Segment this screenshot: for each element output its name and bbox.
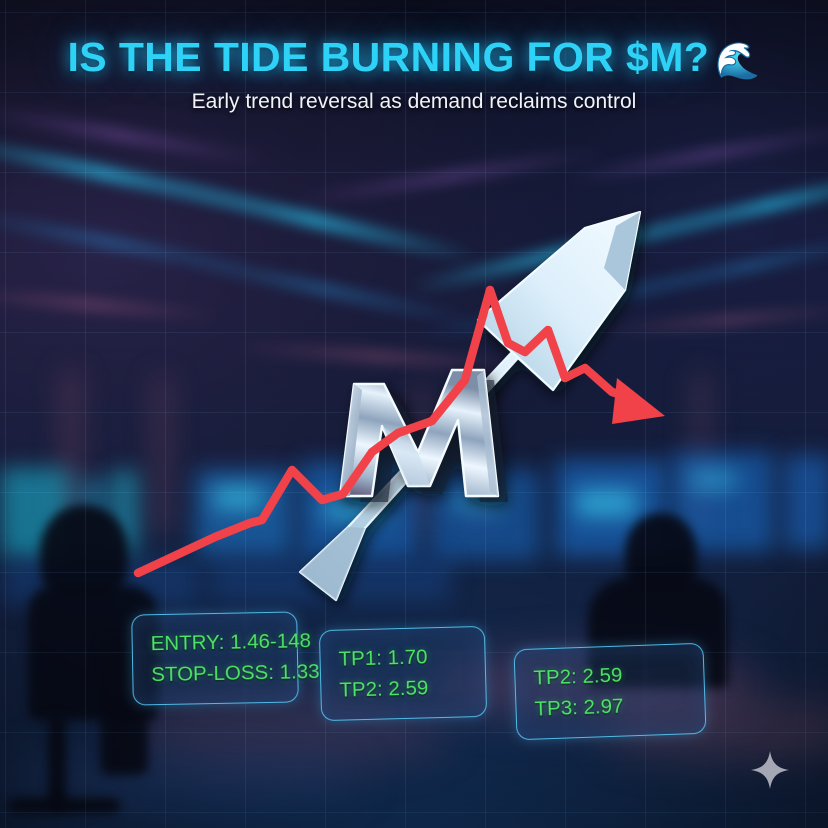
price-line-down-arrowhead <box>612 378 665 424</box>
sparkle-icon <box>750 750 790 790</box>
entry-card-line-1: ENTRY: 1.46-148 <box>150 626 279 660</box>
wave-icon: 🌊 <box>715 40 760 81</box>
tp-card-a-line-1: TP1: 1.70 <box>338 640 467 674</box>
tp-card-b[interactable]: TP2: 2.59 TP3: 2.97 <box>513 643 706 741</box>
entry-card[interactable]: ENTRY: 1.46-148 STOP-LOSS: 1.33 <box>131 611 299 705</box>
tp-card-a[interactable]: TP1: 1.70 TP2: 2.59 <box>319 626 487 722</box>
signal-graphic: IS THE TIDE BURNING FOR $M?🌊 Early trend… <box>0 0 828 828</box>
page-subtitle: Early trend reversal as demand reclaims … <box>0 90 828 114</box>
tp-card-b-line-2: TP3: 2.97 <box>534 689 687 725</box>
page-title-text: IS THE TIDE BURNING FOR $M? <box>68 34 710 80</box>
header: IS THE TIDE BURNING FOR $M?🌊 Early trend… <box>0 36 828 114</box>
entry-card-line-2: STOP-LOSS: 1.33 <box>151 657 280 691</box>
page-title: IS THE TIDE BURNING FOR $M?🌊 <box>0 36 828 79</box>
tp-card-a-line-2: TP2: 2.59 <box>339 671 468 705</box>
m-logo <box>340 370 508 502</box>
